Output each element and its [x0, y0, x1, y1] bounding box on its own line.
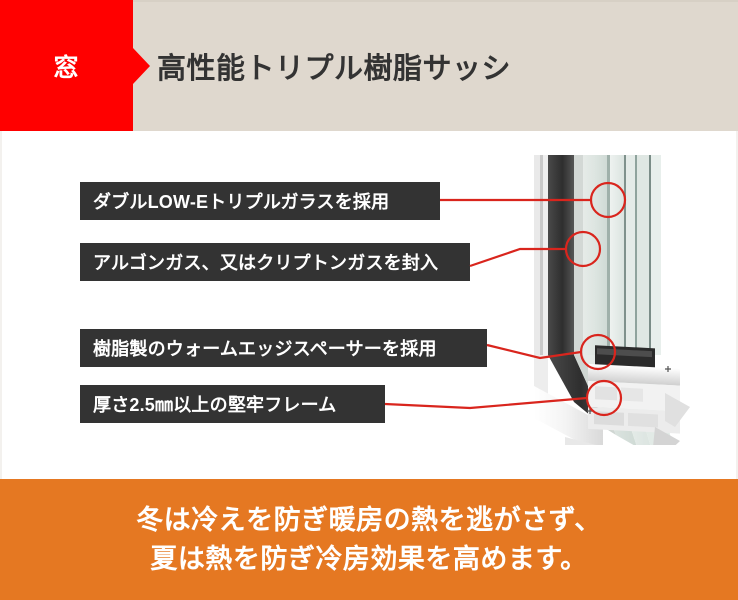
- footer-line-1: 冬は冷えを防ぎ暖房の熱を逃がさず、: [136, 501, 602, 539]
- footer-banner: 冬は冷えを防ぎ暖房の熱を逃がさず、 夏は熱を防ぎ冷房効果を高めます。: [0, 479, 738, 600]
- category-label: 窓: [0, 0, 133, 131]
- callout-thick-frame: 厚さ2.5㎜以上の堅牢フレーム: [80, 385, 385, 423]
- infographic-page: 窓 高性能トリプル樹脂サッシ: [0, 0, 738, 600]
- footer-line-2: 夏は熱を防ぎ冷房効果を高めます。: [150, 540, 587, 578]
- glazing-stack: [534, 155, 661, 355]
- page-title: 高性能トリプル樹脂サッシ: [157, 0, 511, 131]
- category-arrow-icon: [133, 48, 150, 84]
- callout-resin-warm-edge-spacer: 樹脂製のウォームエッジスペーサーを採用: [80, 329, 487, 367]
- callout-argon-krypton-gas: アルゴンガス、又はクリプトンガスを封入: [80, 243, 470, 281]
- window-cross-section-figure: [515, 155, 725, 445]
- header: 窓 高性能トリプル樹脂サッシ: [0, 0, 738, 131]
- callout-double-low-e-glass: ダブルLOW-Eトリプルガラスを採用: [80, 182, 440, 220]
